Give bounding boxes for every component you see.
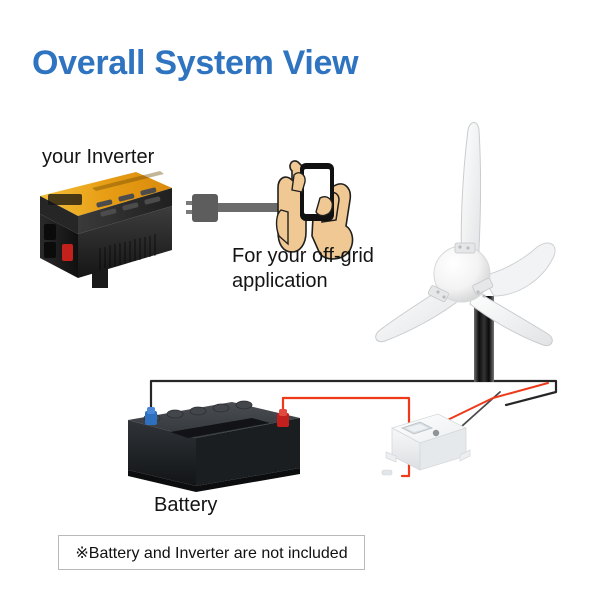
disclaimer-text: ※Battery and Inverter are not included [75, 543, 347, 563]
charge-controller-illustration [382, 414, 470, 475]
label-offgrid-application: For your off-grid application [232, 244, 417, 294]
wire-positive-battery-to-controller [283, 398, 409, 476]
inverter-power-switch [62, 244, 73, 261]
diagram-artwork [0, 0, 600, 600]
disclaimer-box: ※Battery and Inverter are not included [58, 535, 365, 570]
controller-knob [433, 430, 439, 436]
battery-positive-terminal [277, 409, 289, 427]
battery-illustration [128, 401, 300, 492]
diagram-canvas: Overall System View [0, 0, 600, 600]
battery-negative-terminal [145, 407, 157, 425]
ac-plug-illustration [186, 194, 290, 222]
turbine-tail-fin [482, 243, 555, 296]
label-battery: Battery [154, 494, 217, 517]
inverter-illustration [40, 171, 172, 288]
label-inverter: your Inverter [42, 146, 154, 169]
